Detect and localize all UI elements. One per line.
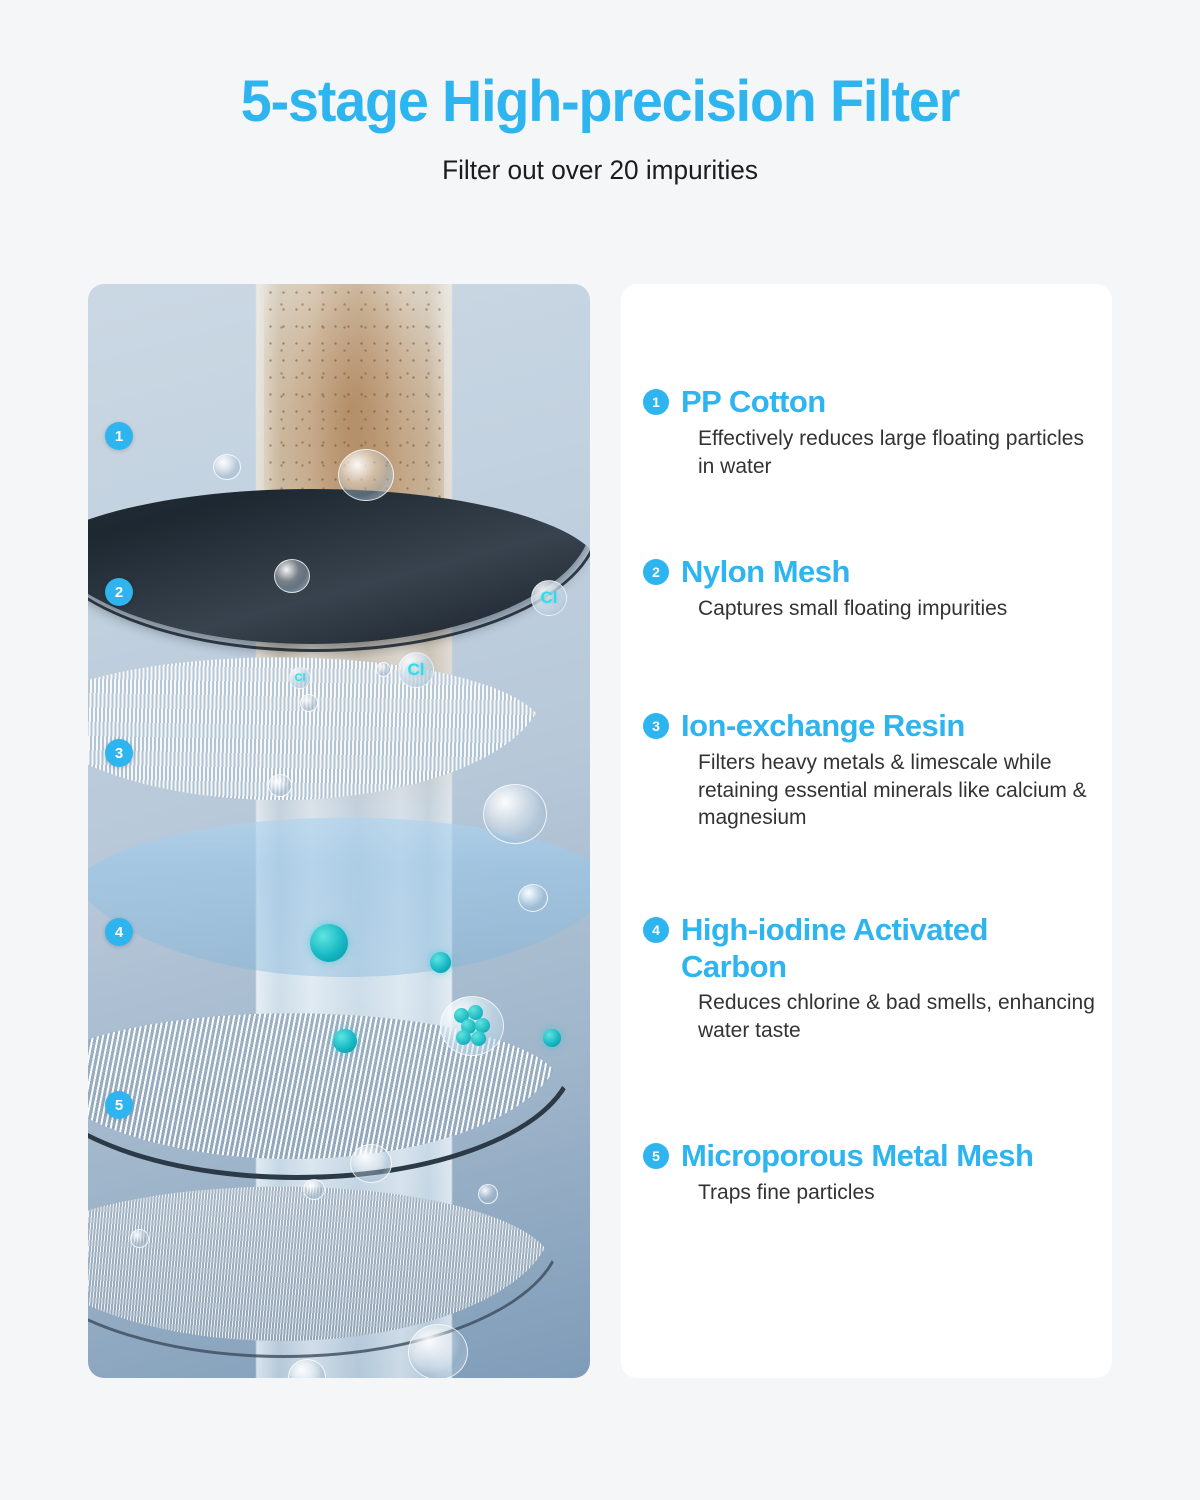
- water-bubble: [268, 774, 292, 797]
- feature-item-5: 5 Microporous Metal Mesh Traps fine part…: [643, 1138, 1095, 1207]
- feature-header: 5 Microporous Metal Mesh: [643, 1138, 1095, 1175]
- chlorine-label: Cl: [398, 652, 434, 688]
- feature-list-card: 1 PP Cotton Effectively reduces large fl…: [621, 284, 1112, 1378]
- water-bubble: [408, 1324, 468, 1378]
- water-bubble: [376, 662, 391, 677]
- feature-header: 2 Nylon Mesh: [643, 554, 1095, 591]
- feature-description-2: Captures small floating impurities: [698, 595, 1095, 623]
- feature-badge-5: 5: [643, 1143, 669, 1169]
- water-bubble: [518, 884, 548, 912]
- feature-badge-1: 1: [643, 389, 669, 415]
- feature-description-4: Reduces chlorine & bad smells, enhancing…: [698, 989, 1095, 1045]
- content-panels: Cl Cl Cl 1 2 3 4 5 1 PP Cotton Effective…: [88, 284, 1112, 1378]
- feature-item-3: 3 Ion-exchange Resin Filters heavy metal…: [643, 708, 1095, 832]
- microbe-particle: [430, 952, 451, 973]
- feature-description-1: Effectively reduces large floating parti…: [698, 425, 1095, 481]
- water-bubble: [303, 1179, 325, 1200]
- illustration-marker-3: 3: [105, 739, 133, 767]
- microbe-particle: [333, 1029, 357, 1053]
- feature-badge-3: 3: [643, 713, 669, 739]
- water-bubble: [274, 559, 310, 593]
- illustration-marker-4: 4: [105, 918, 133, 946]
- illustration-marker-2: 2: [105, 578, 133, 606]
- water-bubble: [213, 454, 241, 480]
- header: 5-stage High-precision Filter Filter out…: [0, 0, 1200, 186]
- feature-item-2: 2 Nylon Mesh Captures small floating imp…: [643, 554, 1095, 623]
- feature-description-3: Filters heavy metals & limescale while r…: [698, 749, 1095, 833]
- feature-header: 3 Ion-exchange Resin: [643, 708, 1095, 745]
- page-subtitle: Filter out over 20 impurities: [18, 155, 1182, 186]
- filter-illustration: Cl Cl Cl 1 2 3 4 5: [88, 284, 590, 1378]
- infographic-page: 5-stage High-precision Filter Filter out…: [0, 0, 1200, 1500]
- feature-header: 1 PP Cotton: [643, 384, 1095, 421]
- feature-badge-2: 2: [643, 559, 669, 585]
- feature-item-4: 4 High-iodine Activated Carbon Reduces c…: [643, 912, 1095, 1045]
- feature-title-3: Ion-exchange Resin: [681, 708, 965, 745]
- feature-title-2: Nylon Mesh: [681, 554, 850, 591]
- page-title: 5-stage High-precision Filter: [24, 72, 1176, 133]
- microbe-particle: [310, 924, 348, 962]
- chlorine-label: Cl: [531, 580, 567, 616]
- water-bubble: [300, 694, 318, 712]
- water-bubble: [130, 1229, 149, 1248]
- water-bubble: [338, 449, 394, 501]
- feature-header: 4 High-iodine Activated Carbon: [643, 912, 1095, 985]
- water-bubble: [478, 1184, 498, 1204]
- feature-description-5: Traps fine particles: [698, 1179, 1095, 1207]
- feature-title-1: PP Cotton: [681, 384, 826, 421]
- illustration-marker-1: 1: [105, 422, 133, 450]
- molecule-cluster: [440, 996, 504, 1056]
- feature-title-4: High-iodine Activated Carbon: [681, 912, 1095, 985]
- water-bubble: [350, 1144, 392, 1183]
- feature-badge-4: 4: [643, 917, 669, 943]
- microbe-particle: [543, 1029, 561, 1047]
- chlorine-label: Cl: [289, 667, 311, 689]
- feature-title-5: Microporous Metal Mesh: [681, 1138, 1033, 1175]
- illustration-marker-5: 5: [105, 1091, 133, 1119]
- feature-item-1: 1 PP Cotton Effectively reduces large fl…: [643, 384, 1095, 480]
- water-bubble: [483, 784, 547, 844]
